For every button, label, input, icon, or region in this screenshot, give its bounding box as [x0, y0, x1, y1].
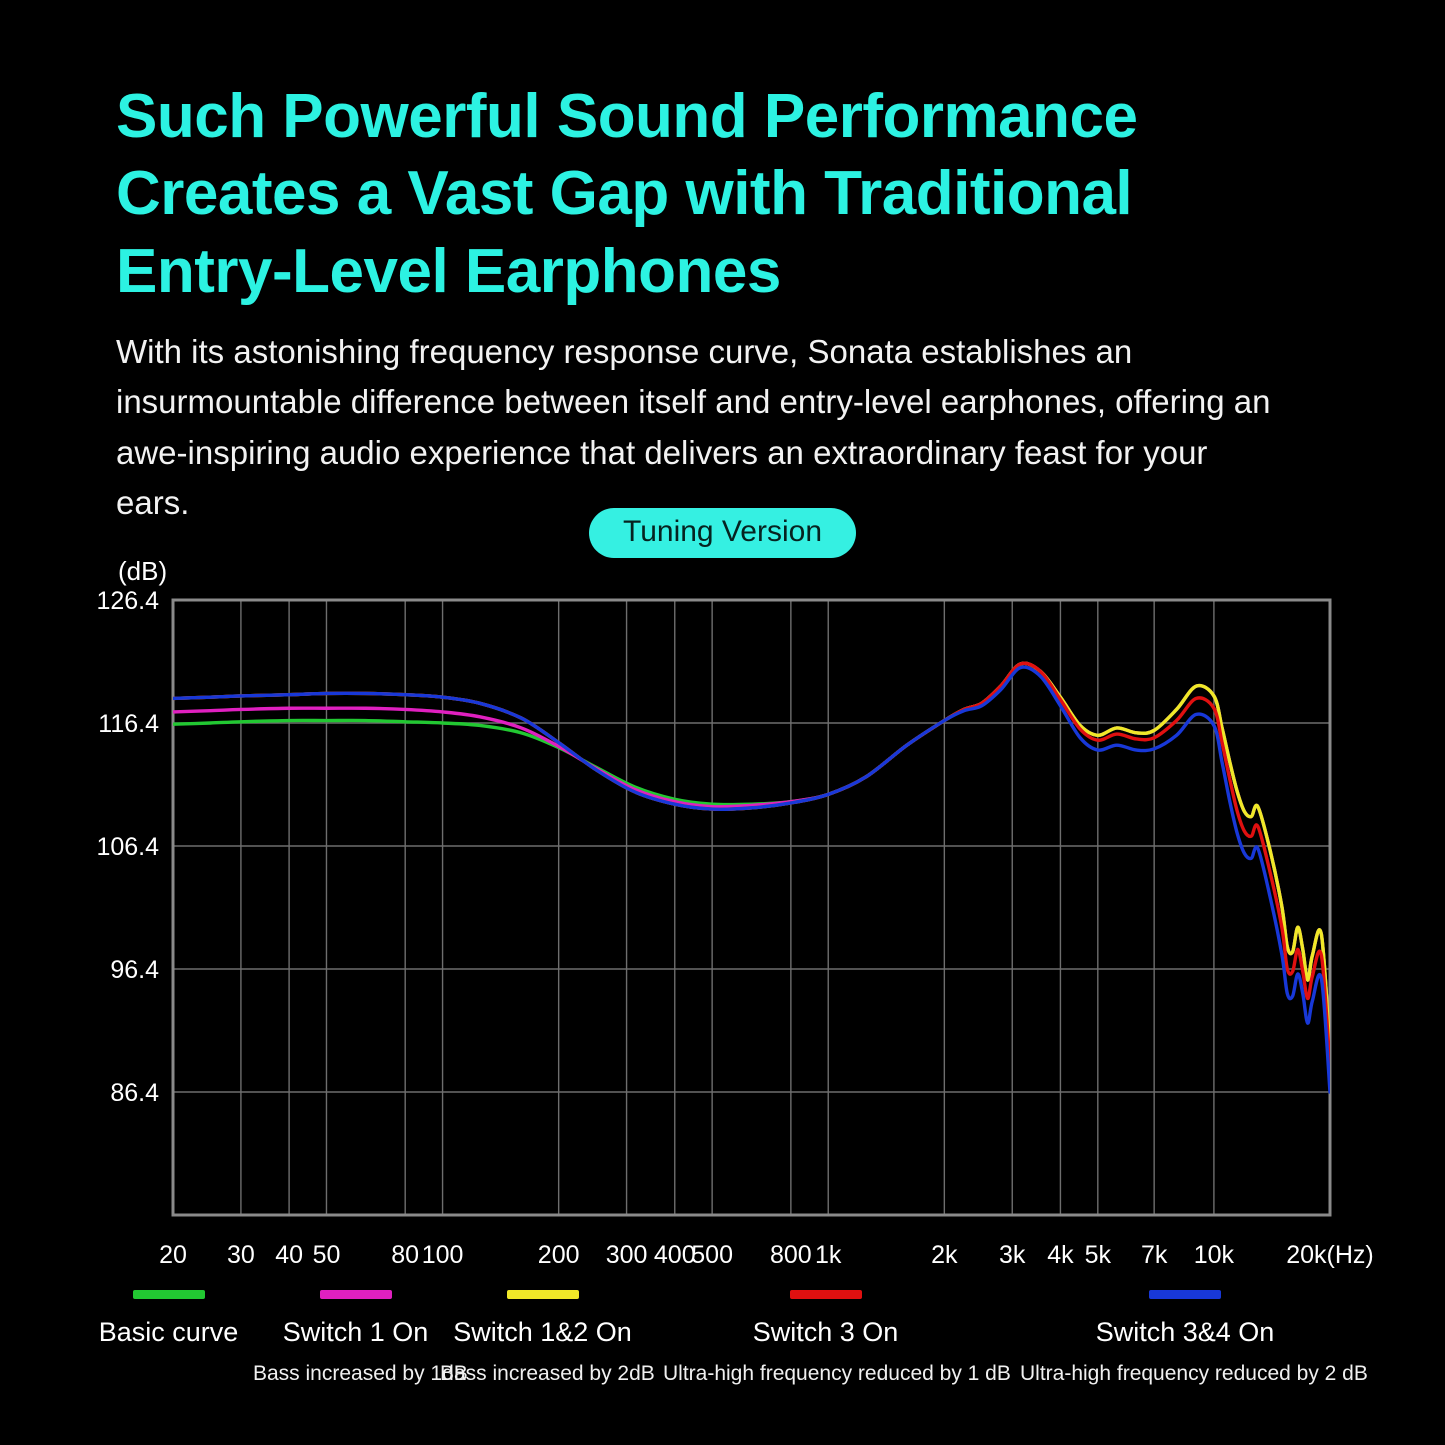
x-axis-tick-label: 7k [1141, 1241, 1168, 1268]
y-axis-tick-label: 116.4 [98, 710, 159, 738]
legend-series-description: Ultra-high frequency reduced by 2 dB [1020, 1362, 1350, 1386]
legend-color-swatch [1149, 1290, 1221, 1299]
y-axis-tick-label: 126.4 [96, 587, 159, 615]
legend-item: Switch 3 OnUltra-high frequency reduced … [663, 1290, 988, 1386]
x-axis-tick-label: 500 [691, 1241, 733, 1268]
x-axis-tick-label: 300 [606, 1241, 648, 1268]
x-axis-tick-label: 5k [1085, 1241, 1112, 1268]
legend-series-title: Switch 3 On [663, 1317, 988, 1348]
legend-series-title: Switch 3&4 On [1020, 1317, 1350, 1348]
y-axis-tick-label: 106.4 [96, 833, 159, 861]
promo-page: Such Powerful Sound Performance Creates … [0, 0, 1445, 1445]
x-axis-tick-label: 800 [770, 1241, 812, 1268]
x-axis-tick-label: 4k [1047, 1241, 1074, 1268]
legend-color-swatch [507, 1290, 579, 1299]
y-axis-tick-label: 86.4 [110, 1079, 159, 1107]
legend-color-swatch [133, 1290, 205, 1299]
legend-series-title: Switch 1 On [253, 1317, 458, 1348]
legend-series-title: Switch 1&2 On [440, 1317, 645, 1348]
x-axis-tick-label: 100 [422, 1241, 464, 1268]
y-axis-tick-label: 96.4 [110, 956, 159, 984]
legend-series-title: Basic curve [66, 1317, 271, 1348]
legend-item: Basic curve [66, 1290, 271, 1348]
series-line [173, 663, 1330, 1052]
legend-color-swatch [320, 1290, 392, 1299]
series-group [173, 663, 1330, 1092]
series-line [173, 663, 1330, 1067]
x-axis-tick-label: 1k [815, 1241, 842, 1268]
x-axis-tick-label: 50 [313, 1241, 341, 1268]
legend-series-description: Bass increased by 2dB [440, 1362, 645, 1386]
x-axis-tick-label: 10k [1194, 1241, 1235, 1268]
chart-legend: Basic curveSwitch 1 OnBass increased by … [0, 1290, 1445, 1410]
x-axis-tick-label: 20k(Hz) [1286, 1241, 1374, 1268]
x-axis-tick-label: 20 [159, 1241, 187, 1268]
frequency-response-chart: (dB) 126.4116.4106.496.486.4203040508010… [0, 548, 1445, 1268]
x-axis-tick-label: 3k [999, 1241, 1026, 1268]
x-axis-tick-label: 2k [931, 1241, 958, 1268]
x-axis-tick-label: 200 [538, 1241, 580, 1268]
x-axis-tick-label: 40 [275, 1241, 303, 1268]
page-title: Such Powerful Sound Performance Creates … [116, 78, 1266, 311]
x-axis-tick-label: 400 [654, 1241, 696, 1268]
legend-item: Switch 3&4 OnUltra-high frequency reduce… [1020, 1290, 1350, 1386]
legend-item: Switch 1 OnBass increased by 1dB [253, 1290, 458, 1386]
chart-plot-svg: 126.4116.4106.496.486.420304050801002003… [0, 548, 1445, 1268]
x-axis-tick-label: 80 [391, 1241, 419, 1268]
body-paragraph: With its astonishing frequency response … [116, 327, 1286, 529]
legend-color-swatch [790, 1290, 862, 1299]
legend-item: Switch 1&2 OnBass increased by 2dB [440, 1290, 645, 1386]
legend-series-description: Bass increased by 1dB [253, 1362, 458, 1386]
legend-series-description: Ultra-high frequency reduced by 1 dB [663, 1362, 988, 1386]
x-axis-tick-label: 30 [227, 1241, 255, 1268]
